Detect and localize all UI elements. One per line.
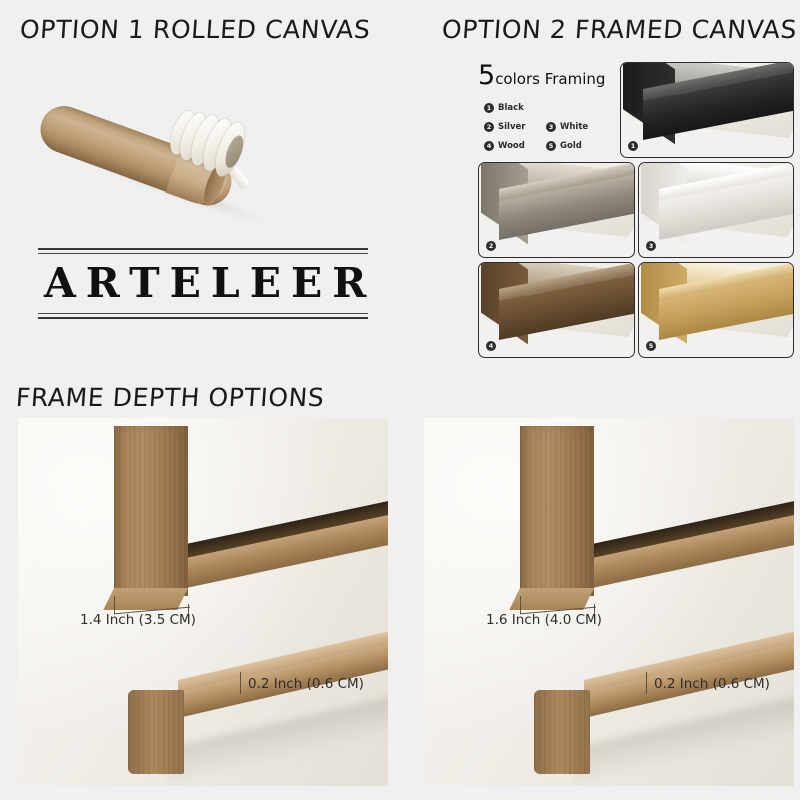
edge-depth-label-right: 0.2 Inch (0.6 CM) xyxy=(654,676,770,692)
edge-depth-label-left: 0.2 Inch (0.6 CM) xyxy=(248,676,364,692)
swatch-badge-2: 2 xyxy=(486,241,496,251)
frame-swatch-gold[interactable]: 5 xyxy=(638,262,794,358)
thin-rail-corner xyxy=(128,690,184,774)
swatch-badge-4: 4 xyxy=(486,341,496,351)
frame-depth-photo-right: 1.6 Inch (4.0 CM) 0.2 Inch (0.6 CM) xyxy=(424,418,794,786)
swatch-badge-5: 5 xyxy=(646,341,656,351)
frame-swatch-white[interactable]: 3 xyxy=(638,162,794,258)
frame-depth-label-left: 1.4 Inch (3.5 CM) xyxy=(80,612,196,628)
frame-depth-photo-left: 1.4 Inch (3.5 CM) 0.2 Inch (0.6 CM) xyxy=(18,418,388,786)
option-2-heading: OPTION 2 FRAMED CANVAS xyxy=(441,15,798,44)
frame-swatch-silver[interactable]: 2 xyxy=(478,162,635,258)
edge-dimension-tick xyxy=(646,672,647,694)
rolled-canvas-image xyxy=(20,58,320,238)
swatch-badge-3: 3 xyxy=(646,241,656,251)
frame-stile-bottom-face xyxy=(509,588,594,610)
frame-depth-label-right: 1.6 Inch (4.0 CM) xyxy=(486,612,602,628)
frame-swatch-black[interactable]: 1 xyxy=(620,62,794,158)
edge-dimension-tick xyxy=(240,672,241,694)
swatch-badge-1: 1 xyxy=(628,141,638,151)
option-1-heading: OPTION 1 ROLLED CANVAS xyxy=(19,15,371,44)
frame-color-swatch-grid: 1 2 3 4 xyxy=(478,62,796,358)
frame-swatch-wood[interactable]: 4 xyxy=(478,262,635,358)
frame-stile xyxy=(114,426,188,596)
brand-logo: ARTELEER xyxy=(38,248,368,319)
frame-stile-bottom-face xyxy=(103,588,188,610)
frame-stile xyxy=(520,426,594,596)
logo-rule-bottom-thick xyxy=(38,317,368,319)
thin-rail-corner xyxy=(534,690,590,774)
frame-depth-heading: FRAME DEPTH OPTIONS xyxy=(15,383,325,412)
brand-name: ARTELEER xyxy=(38,254,368,313)
